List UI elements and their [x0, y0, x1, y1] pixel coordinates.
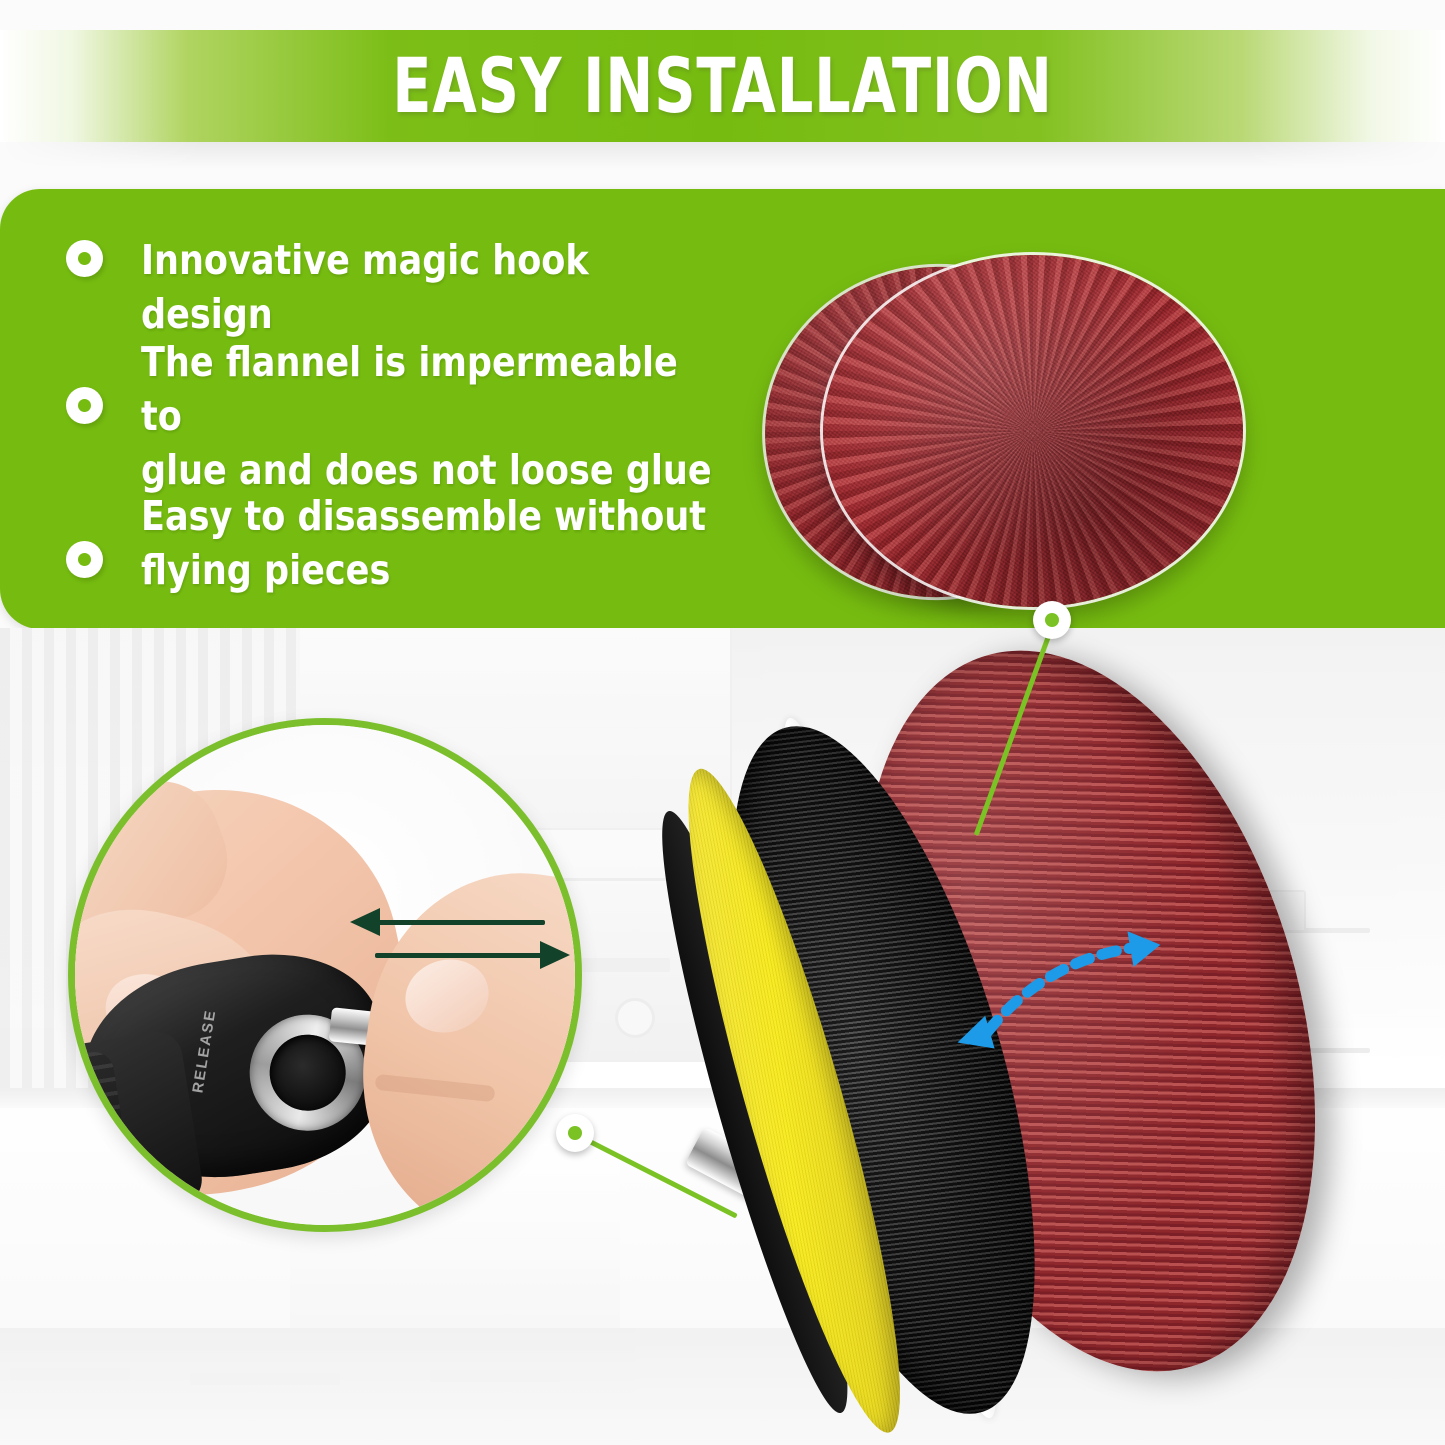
backing-pad-product	[740, 648, 1360, 1438]
pad-stack	[658, 628, 1402, 1445]
drill-chuck-inset-photo: RELEASE	[68, 718, 582, 1232]
background-drawer	[10, 1368, 130, 1380]
product-photo-section: RELEASE	[0, 628, 1445, 1445]
red-scouring-pads-photo	[745, 219, 1445, 629]
red-pad-callout-dot-icon	[1033, 601, 1071, 639]
background-drawer	[430, 1370, 560, 1382]
donut-bullet-icon	[66, 387, 103, 424]
list-item: Easy to disassemble without flying piece…	[66, 489, 736, 597]
background-oven-knob	[615, 998, 655, 1038]
features-panel: Innovative magic hook design The flannel…	[0, 189, 1445, 629]
feature-bullet-list: Innovative magic hook design The flannel…	[0, 189, 760, 629]
feature-text: Innovative magic hook design	[141, 233, 729, 341]
hex-shank-callout-dot-icon	[556, 1114, 594, 1152]
donut-bullet-icon	[66, 240, 103, 277]
background-drawer	[190, 1373, 340, 1385]
scouring-pad-front	[823, 255, 1243, 607]
list-item: Innovative magic hook design	[66, 233, 760, 341]
feature-text: Easy to disassemble without flying piece…	[141, 489, 706, 597]
pad-texture	[823, 255, 1243, 607]
donut-bullet-icon	[66, 541, 103, 578]
page-title: EASY INSTALLATION	[116, 48, 1330, 124]
header-banner: EASY INSTALLATION	[0, 30, 1445, 142]
feature-text: The flannel is impermeable to glue and d…	[141, 335, 729, 497]
infographic-page: EASY INSTALLATION Innovative magic hook …	[0, 0, 1445, 1445]
list-item: The flannel is impermeable to glue and d…	[66, 335, 760, 497]
chuck-release-label: RELEASE	[189, 1008, 219, 1094]
